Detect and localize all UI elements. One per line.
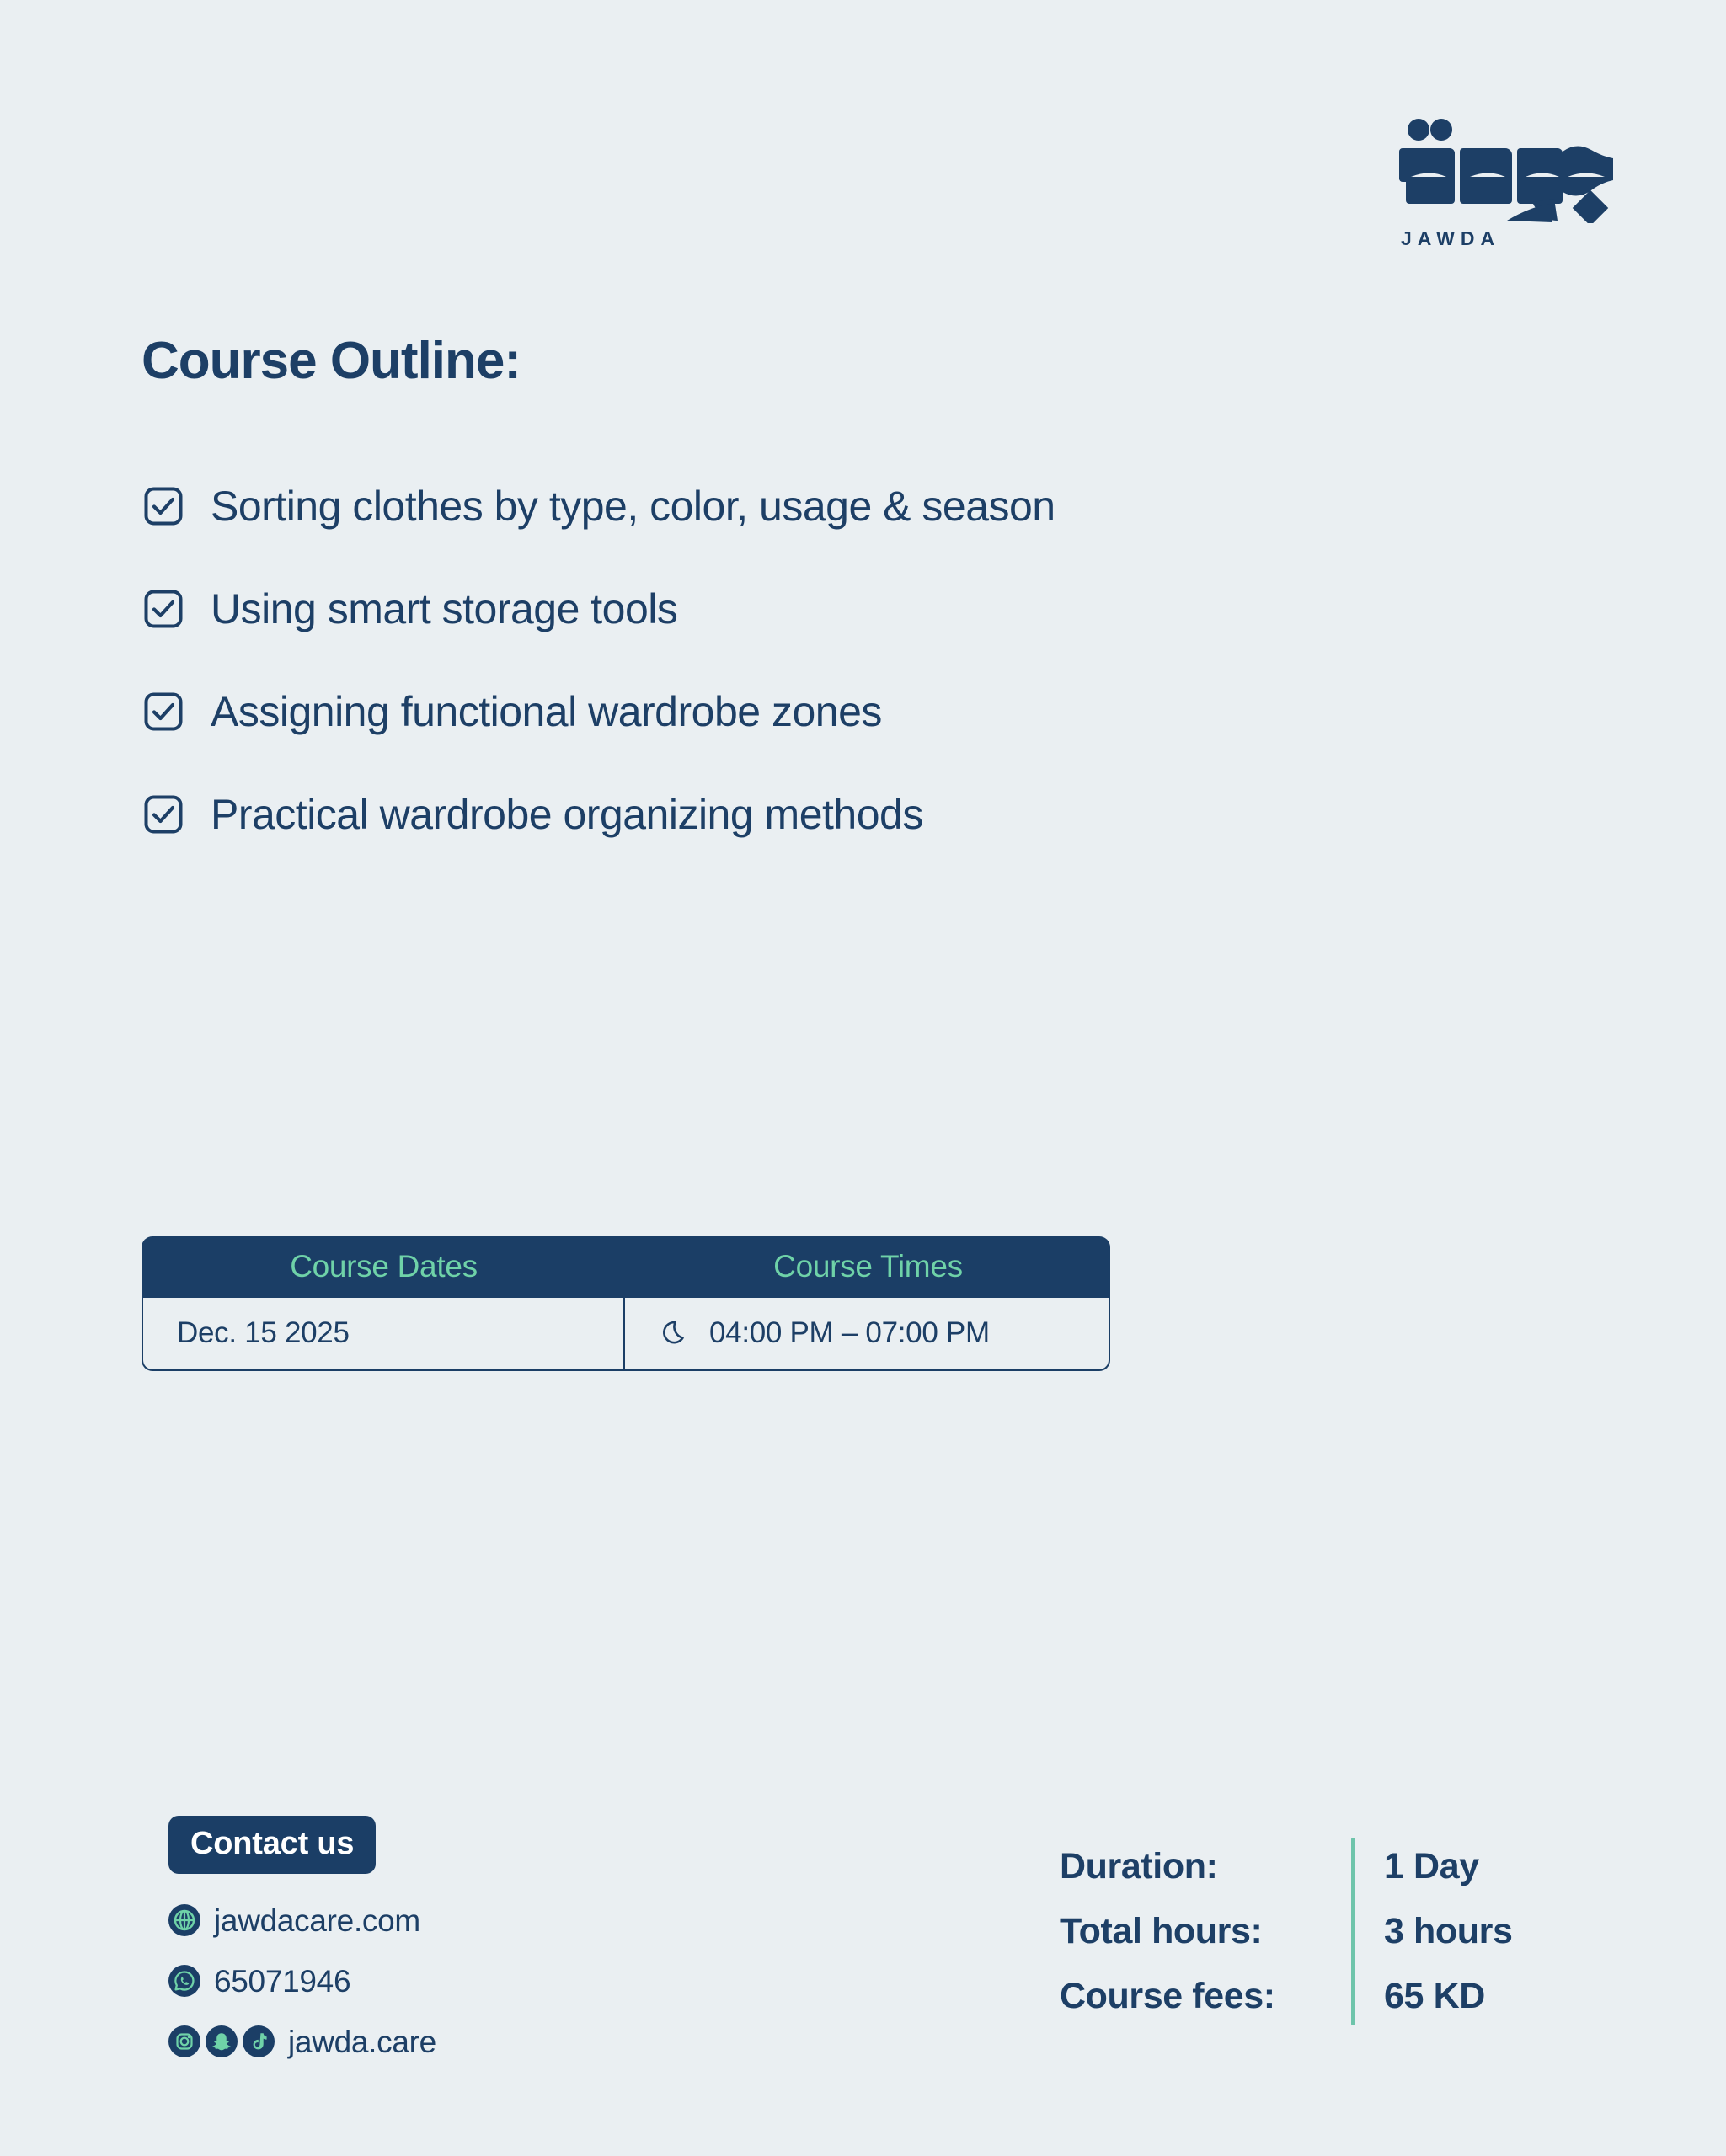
list-item-label: Practical wardrobe organizing methods bbox=[211, 793, 923, 835]
phone-text: 65071946 bbox=[214, 1966, 350, 1997]
cell-course-time: 04:00 PM – 07:00 PM bbox=[623, 1298, 1109, 1369]
list-item-label: Assigning functional wardrobe zones bbox=[211, 691, 882, 733]
table-header-row: Course Dates Course Times bbox=[142, 1236, 1110, 1298]
cell-course-date: Dec. 15 2025 bbox=[143, 1298, 623, 1369]
page-title: Course Outline: bbox=[142, 335, 521, 387]
list-item: Assigning functional wardrobe zones bbox=[143, 660, 1407, 763]
contact-section: Contact us jawdacare.com 65071946 bbox=[168, 1816, 691, 2063]
contact-social-row[interactable]: jawda.care bbox=[168, 2020, 691, 2063]
logo-wordmark: JAWDA bbox=[1401, 229, 1500, 248]
value-course-fees: 65 KD bbox=[1384, 1964, 1513, 2029]
table-row: Dec. 15 2025 04:00 PM – 07:00 PM bbox=[142, 1298, 1110, 1371]
details-values: 1 Day 3 hours 65 KD bbox=[1384, 1834, 1513, 2029]
column-header-course-dates: Course Dates bbox=[142, 1236, 626, 1298]
list-item-label: Using smart storage tools bbox=[211, 588, 677, 630]
instagram-icon[interactable] bbox=[168, 2025, 200, 2057]
checkbox-checked-icon bbox=[143, 794, 184, 835]
cell-course-time-text: 04:00 PM – 07:00 PM bbox=[709, 1318, 990, 1347]
checkbox-checked-icon bbox=[143, 691, 184, 732]
label-course-fees: Course fees: bbox=[1060, 1964, 1329, 2029]
label-duration: Duration: bbox=[1060, 1834, 1329, 1899]
contact-phone-row[interactable]: 65071946 bbox=[168, 1960, 691, 2002]
details-labels: Duration: Total hours: Course fees: bbox=[1060, 1834, 1329, 2029]
course-schedule-table: Course Dates Course Times Dec. 15 2025 0… bbox=[142, 1236, 1110, 1371]
whatsapp-icon bbox=[168, 1965, 200, 1997]
moon-icon bbox=[662, 1319, 691, 1347]
tiktok-icon[interactable] bbox=[243, 2025, 275, 2057]
checkbox-checked-icon bbox=[143, 589, 184, 629]
course-details-block: Duration: Total hours: Course fees: 1 Da… bbox=[1060, 1834, 1513, 2029]
contact-website-row[interactable]: jawdacare.com bbox=[168, 1899, 691, 1941]
social-handle-text: jawda.care bbox=[288, 2026, 436, 2057]
jawda-arabic-logo bbox=[1397, 118, 1616, 223]
globe-icon bbox=[168, 1904, 200, 1936]
details-divider bbox=[1351, 1838, 1355, 2025]
label-total-hours: Total hours: bbox=[1060, 1899, 1329, 1964]
list-item: Sorting clothes by type, color, usage & … bbox=[143, 455, 1407, 558]
value-duration: 1 Day bbox=[1384, 1834, 1513, 1899]
value-total-hours: 3 hours bbox=[1384, 1899, 1513, 1964]
social-icon-group bbox=[168, 2025, 275, 2057]
list-item: Using smart storage tools bbox=[143, 558, 1407, 660]
list-item: Practical wardrobe organizing methods bbox=[143, 763, 1407, 866]
website-text: jawdacare.com bbox=[214, 1905, 420, 1936]
snapchat-icon[interactable] bbox=[206, 2025, 238, 2057]
checkbox-checked-icon bbox=[143, 486, 184, 526]
list-item-label: Sorting clothes by type, color, usage & … bbox=[211, 485, 1055, 527]
brand-logo: JAWDA bbox=[1397, 118, 1616, 248]
contact-us-badge: Contact us bbox=[168, 1816, 376, 1874]
course-outline-list: Sorting clothes by type, color, usage & … bbox=[143, 455, 1407, 866]
column-header-course-times: Course Times bbox=[626, 1236, 1110, 1298]
